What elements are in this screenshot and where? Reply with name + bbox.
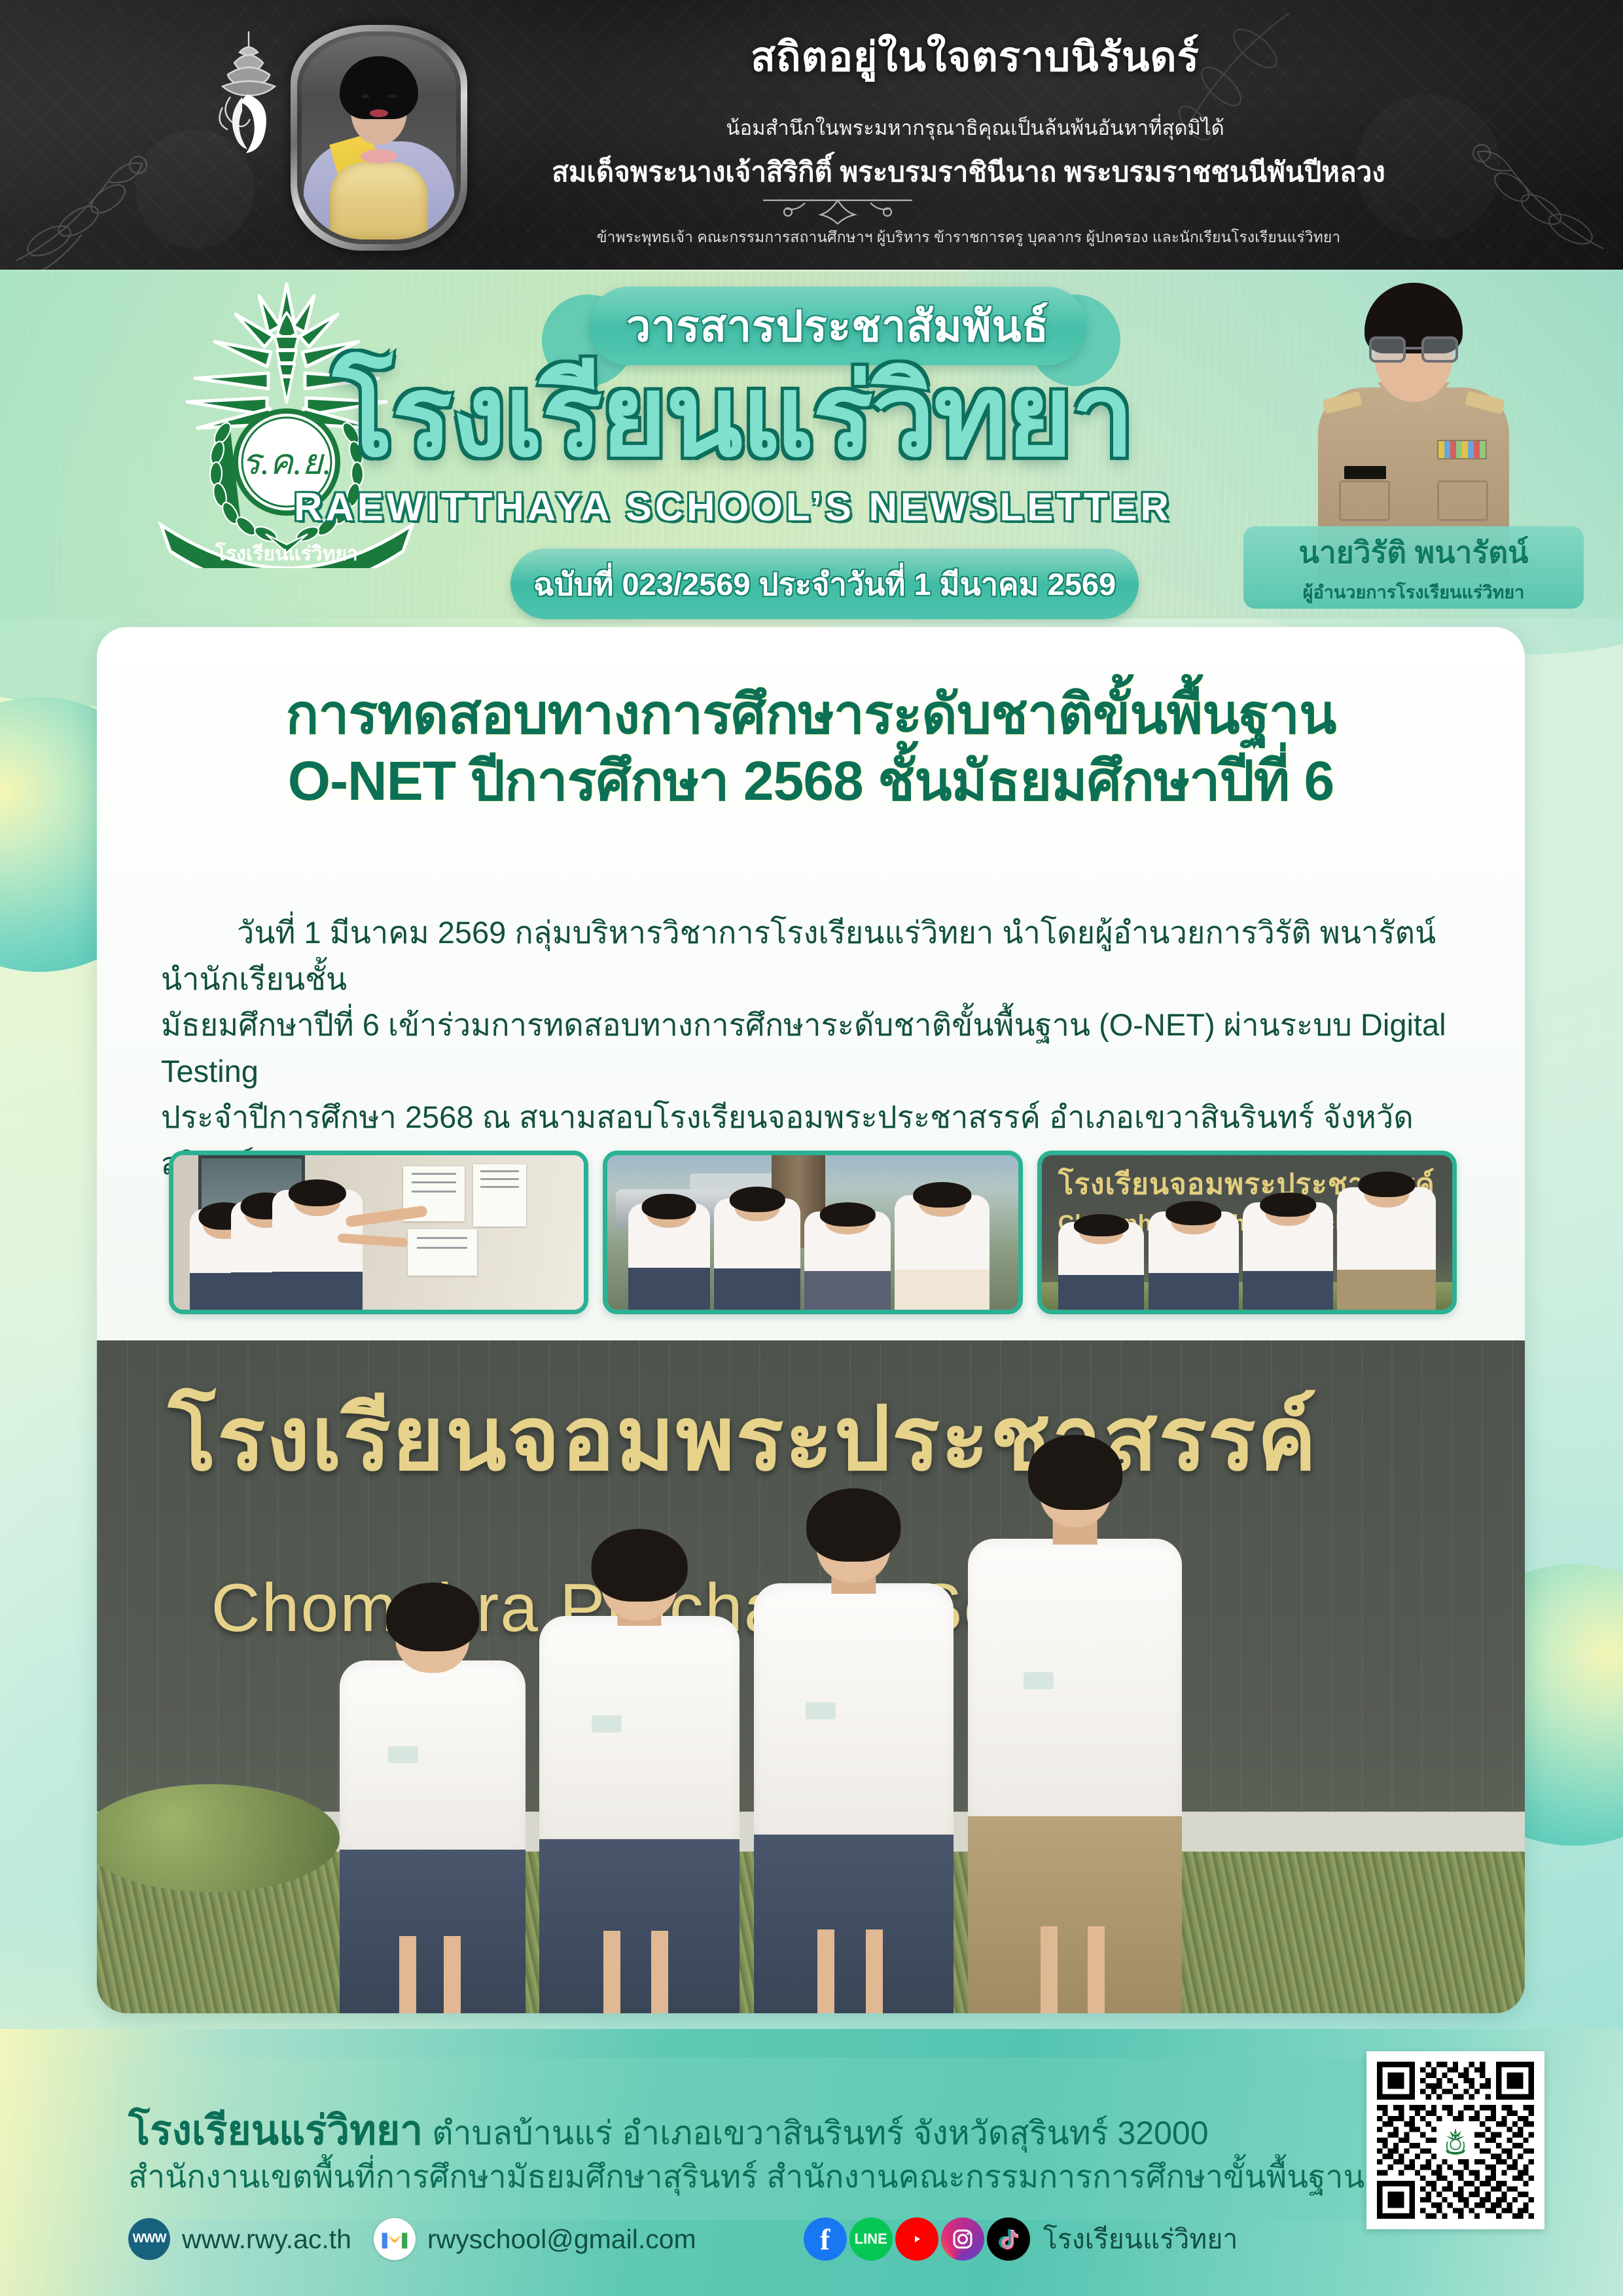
photo-thumbnail[interactable]: โรงเรียนจอมพระประชาสรรค์ Chomphra Pracha… [1037,1151,1457,1314]
royal-header-from-line: ข้าพระพุทธเจ้า คณะกรรมการสถานศึกษาฯ ผู้บ… [458,226,1479,249]
royal-cypher-icon [196,26,301,177]
website-contact[interactable]: WWW www.rwy.ac.th [128,2218,351,2260]
issue-badge: ฉบับที่ 023/2569 ประจำวันที่ 1 มีนาคม 25… [510,548,1139,619]
hero-students [97,1340,1525,2013]
footer-school-name: โรงเรียนแร่วิทยา [128,2108,423,2153]
hero-photo[interactable]: โรงเรียนจอมพระประชาสรรค์ Chomphra Pracha… [97,1340,1525,2013]
school-name-en: RAEWITTHAYA SCHOOL’S NEWSLETTER [79,484,1387,529]
glasses-icon [1369,336,1458,363]
photo-thumbnail[interactable] [603,1151,1022,1314]
floral-ornament-icon [10,110,226,270]
social-label: โรงเรียนแร่วิทยา [1043,2218,1238,2261]
royal-header-subtitle: น้อมสำนึกในพระมหากรุณาธิคุณเป็นล้นพ้นอัน… [510,111,1440,144]
tiktok-icon[interactable] [987,2217,1030,2261]
royal-header-title: สถิตอยู่ในใจตราบนิรันดร์ [510,25,1440,89]
globe-icon: WWW [128,2218,170,2260]
ornamental-divider-icon [759,196,916,225]
article-body-line-1: วันที่ 1 มีนาคม 2569 กลุ่มบริหารวิชาการโ… [161,910,1463,1002]
headline-line-2: O-NET ปีการศึกษา 2568 ชั้นมัธยมศึกษาปีที… [136,747,1486,814]
issue-badge-text: ฉบับที่ 023/2569 ประจำวันที่ 1 มีนาคม 25… [533,560,1116,609]
content-card: การทดสอบทางการศึกษาระดับชาติขั้นพื้นฐาน … [97,627,1525,2013]
royal-mourning-header: สถิตอยู่ในใจตราบนิรันดร์ น้อมสำนึกในพระม… [0,0,1623,270]
social-links: f LINE โรงเรียนแร่วิทยา [804,2217,1238,2261]
queen-portrait-photo [302,36,456,240]
director-name: นายวิรัติ พนารัตน์ [1298,529,1528,577]
email-contact[interactable]: rwyschool@gmail.com [374,2218,696,2260]
footer-contacts: WWW www.rwy.ac.th rwyschool@gmail.com f [128,2211,1280,2267]
website-url: www.rwy.ac.th [182,2224,351,2255]
director-nameplate: นายวิรัติ พนารัตน์ ผู้อำนวยการโรงเรียนแร… [1243,526,1584,609]
qr-code[interactable] [1366,2051,1544,2229]
school-name-th: โรงเรียนแร่วิทยา [79,360,1387,473]
newsletter-page: สถิตอยู่ในใจตราบนิรันดร์ น้อมสำนึกในพระม… [0,0,1623,2296]
facebook-icon[interactable]: f [804,2217,847,2261]
photo-strip: โรงเรียนจอมพระประชาสรรค์ Chomphra Pracha… [169,1151,1457,1314]
gmail-icon [374,2218,416,2260]
newsletter-label-text: วารสารประชาสัมพันธ์ [626,292,1049,361]
footer: โรงเรียนแร่วิทยา ตำบลบ้านแร่ อำเภอเขวาสิ… [0,2029,1623,2296]
article-body-line-2: มัธยมศึกษาปีที่ 6 เข้าร่วมการทดสอบทางการ… [161,1002,1463,1094]
article-headline: การทดสอบทางการศึกษาระดับชาติขั้นพื้นฐาน … [136,681,1486,815]
footer-affiliation: สำนักงานเขตพื้นที่การศึกษามัธยมศึกษาสุริ… [128,2152,1280,2202]
director-role: ผู้อำนวยการโรงเรียนแร่วิทยา [1303,578,1525,606]
queen-portrait-frame [291,25,467,251]
qr-center-logo [1436,2121,1474,2159]
royal-name: สมเด็จพระนางเจ้าสิริกิติ์ พระบรมราชินีนา… [458,151,1479,194]
instagram-icon[interactable] [941,2217,984,2261]
qr-code-grid [1377,2062,1534,2219]
youtube-icon[interactable] [895,2217,938,2261]
headline-line-1: การทดสอบทางการศึกษาระดับชาติขั้นพื้นฐาน [286,683,1336,745]
logo-banner-text: โรงเรียนแร่วิทยา [215,541,358,565]
line-icon[interactable]: LINE [849,2217,893,2261]
director-block: นายวิรัติ พนารัตน์ ผู้อำนวยการโรงเรียนแร… [1243,270,1584,617]
footer-address: ตำบลบ้านแร่ อำเภอเขวาสินรินทร์ จังหวัดสุ… [432,2115,1208,2151]
article-body: วันที่ 1 มีนาคม 2569 กลุ่มบริหารวิชาการโ… [161,910,1463,1187]
photo-thumbnail[interactable] [169,1151,588,1314]
email-address: rwyschool@gmail.com [427,2224,696,2255]
